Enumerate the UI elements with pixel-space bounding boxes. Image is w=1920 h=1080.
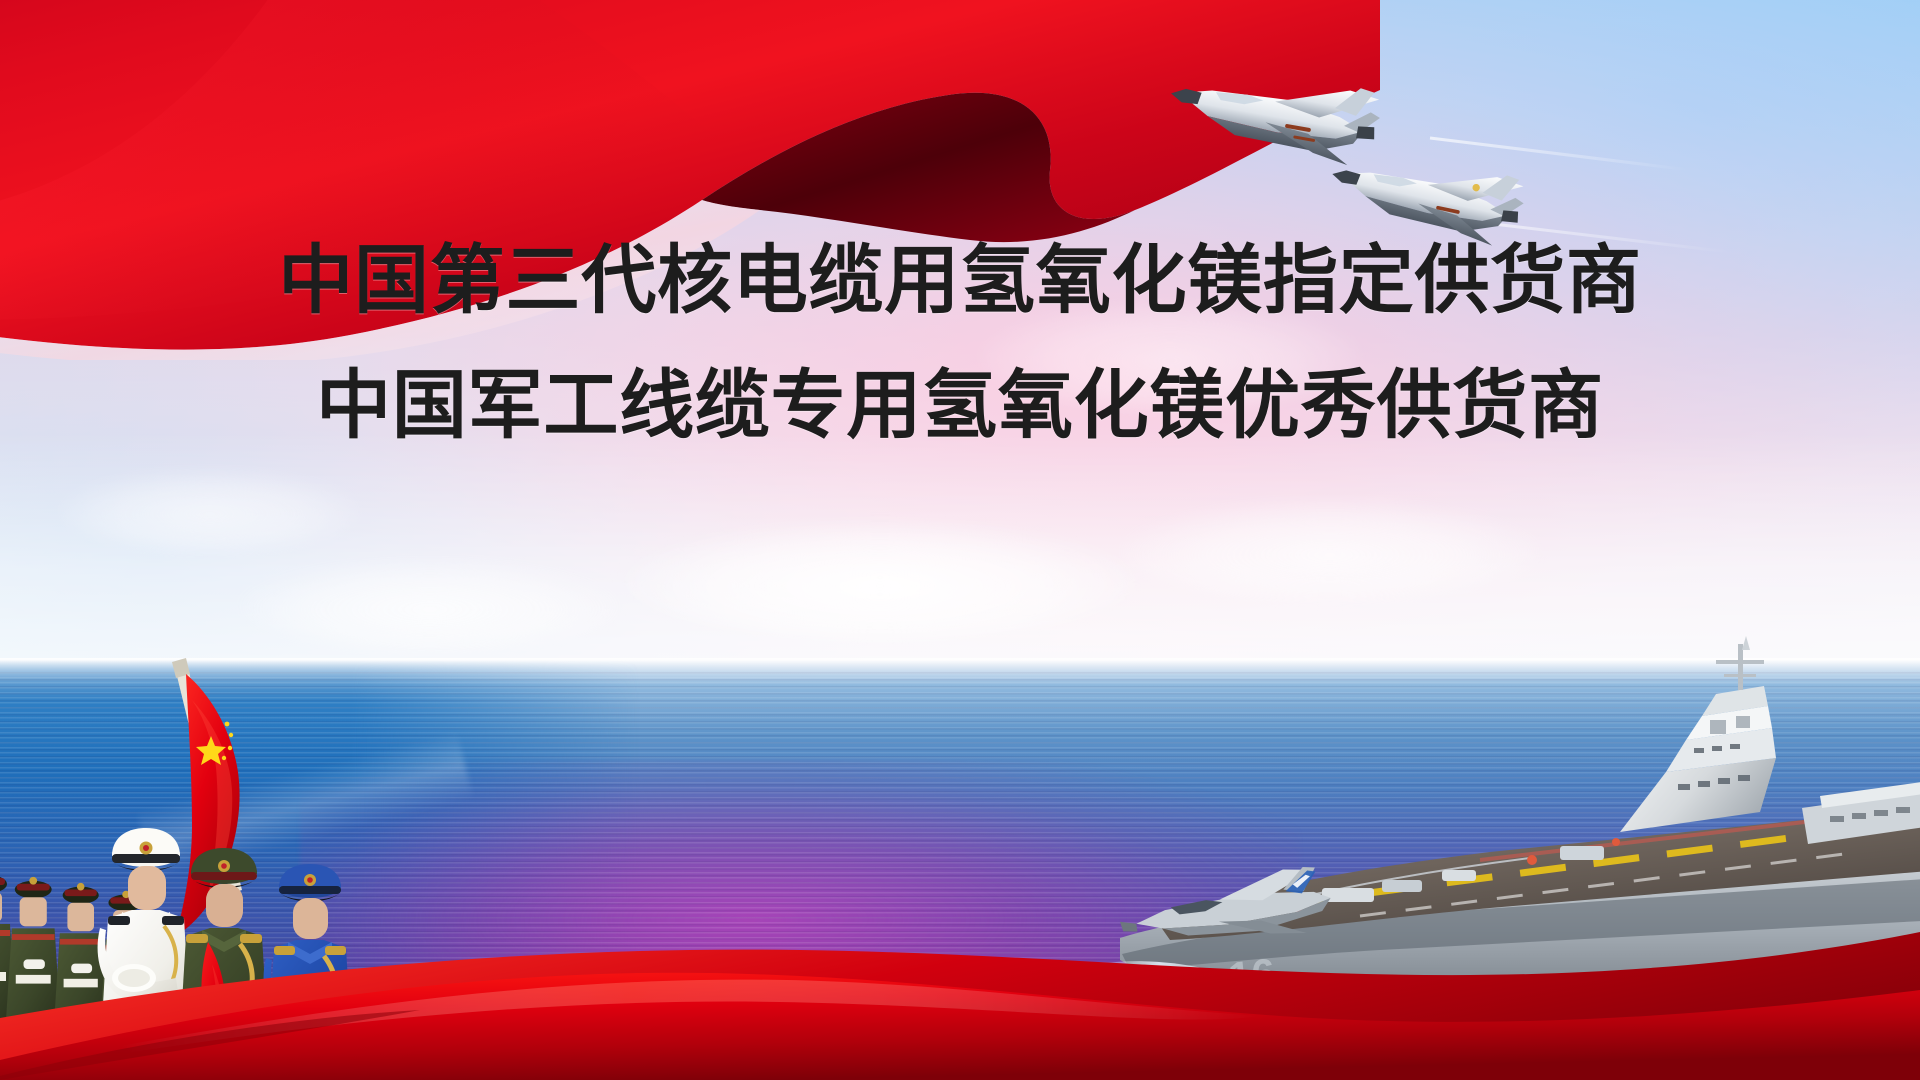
contrail — [1460, 220, 1730, 252]
contrail — [1430, 138, 1690, 170]
fighter-jet-wingman — [1325, 140, 1529, 250]
banner-canvas: 16 — [0, 0, 1920, 1080]
red-ribbon-wave — [0, 850, 1920, 1080]
carrier-island — [1620, 636, 1776, 832]
fighter-jet-formation — [1130, 20, 1750, 280]
cloud — [60, 470, 360, 550]
cloud — [240, 560, 620, 650]
fighter-jet-lead — [1164, 56, 1384, 169]
cloud — [1120, 500, 1540, 600]
